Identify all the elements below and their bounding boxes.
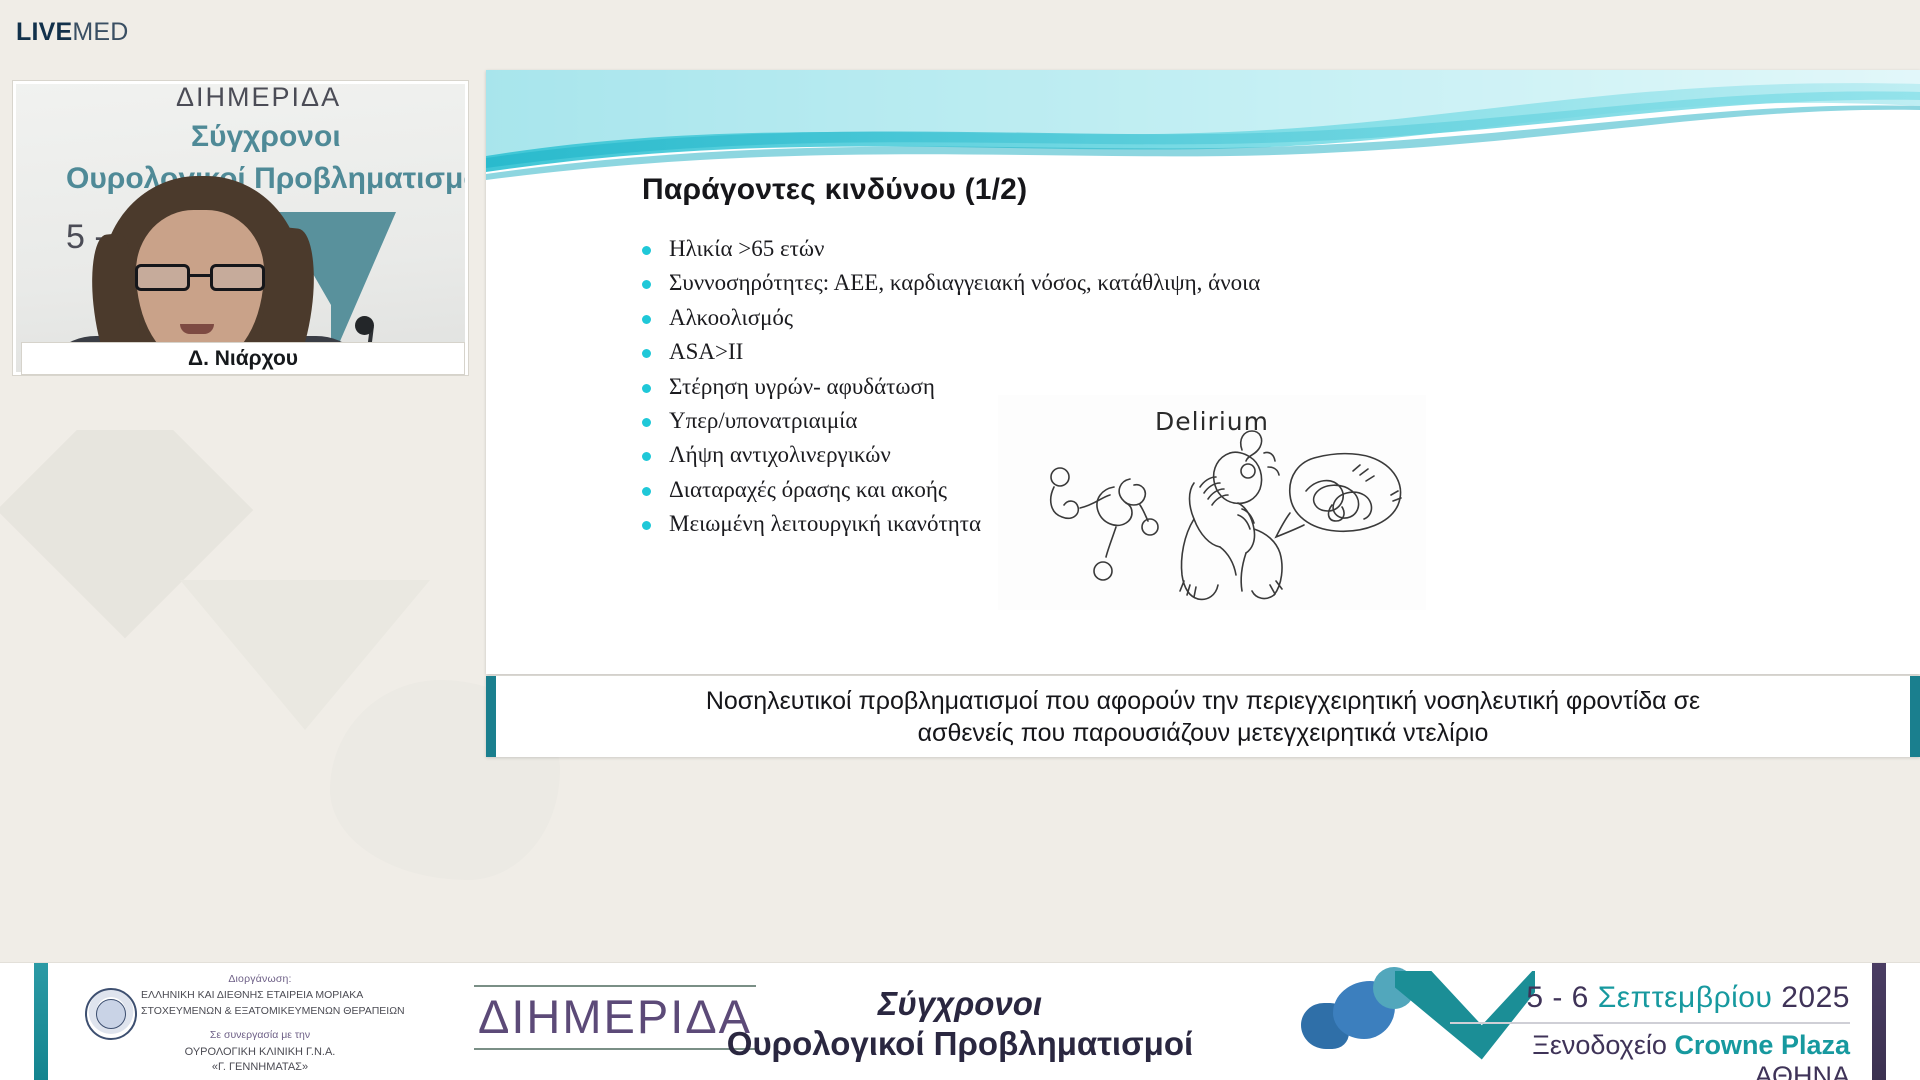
speaker-video-frame: ΔΙΗΜΕΡΙΔΑ Σύγχρονοι Ουρολογικοί Προβλημα…	[16, 84, 465, 372]
speaker-nameplate: Δ. Νιάρχου	[22, 343, 464, 374]
list-item: ASA>II	[642, 340, 1472, 364]
session-caption-text: Νοσηλευτικοί προβληματισμοί που αφορούν …	[706, 685, 1700, 749]
logo-med-text: MED	[72, 18, 128, 46]
footer-date-days: 5 - 6	[1526, 981, 1589, 1014]
footer-venue-label: Ξενοδοχείο	[1532, 1030, 1667, 1060]
footer-event-title-line-2: Ουρολογικοί Προβληματισμοί	[610, 1025, 1310, 1063]
list-item: Συννοσηρότητες: ΑΕΕ, καρδιαγγειακή νόσος…	[642, 271, 1472, 295]
collaborator-name-line-1: ΟΥΡΟΛΟΓΙΚΗ ΚΛΙΝΙΚΗ Γ.Ν.Α.	[95, 1045, 425, 1061]
footer-organizers: Διοργάνωση: ΕΛΛΗΝΙΚΗ ΚΑΙ ΔΙΕΘΝΗΣ ΕΤΑΙΡΕΙ…	[95, 973, 425, 1076]
presentation-slide[interactable]: Παράγοντες κινδύνου (1/2) Ηλικία >65 ετώ…	[486, 70, 1920, 674]
glasses-lens-left	[135, 264, 190, 291]
footer-event-title-line-1: Σύγχρονοι	[610, 985, 1310, 1023]
speaker-mouth	[180, 324, 214, 334]
organizer-name-line-2: ΣΤΟΧΕΥΜΕΝΩΝ & ΕΞΑΤΟΜΙΚΕΥΜΕΝΩΝ ΘΕΡΑΠΕΙΩΝ	[141, 1004, 425, 1020]
footer-date-year: 2025	[1781, 981, 1850, 1014]
logo-live-text: LIVE	[16, 18, 72, 46]
deco-chevron-2	[180, 580, 430, 830]
bullet-dot-icon	[642, 487, 651, 496]
deco-chevron-1	[0, 430, 358, 848]
bullet-dot-icon	[642, 452, 651, 461]
microphone-head-icon	[355, 316, 374, 335]
collaboration-label: Σε συνεργασία με την	[95, 1029, 425, 1041]
list-item-label: ASA>II	[669, 340, 743, 364]
session-caption-bar: Νοσηλευτικοί προβληματισμοί που αφορούν …	[486, 676, 1920, 757]
bullet-dot-icon	[642, 315, 651, 324]
list-item: Ηλικία >65 ετών	[642, 237, 1472, 261]
footer-event-title: Σύγχρονοι Ουρολογικοί Προβληματισμοί	[610, 985, 1310, 1063]
event-footer: Διοργάνωση: ΕΛΛΗΝΙΚΗ ΚΑΙ ΔΙΕΘΝΗΣ ΕΤΑΙΡΕΙ…	[0, 962, 1920, 1080]
list-item-label: Στέρηση υγρών- αφυδάτωση	[669, 375, 935, 399]
list-item-label: Συννοσηρότητες: ΑΕΕ, καρδιαγγειακή νόσος…	[669, 271, 1260, 295]
slide-content: Παράγοντες κινδύνου (1/2) Ηλικία >65 ετώ…	[486, 70, 1920, 674]
footer-date: 5 - 6 Σεπτεμβρίου 2025	[1450, 981, 1850, 1015]
list-item-label: Ηλικία >65 ετών	[669, 237, 824, 261]
collaborator-name: ΟΥΡΟΛΟΓΙΚΗ ΚΛΙΝΙΚΗ Γ.Ν.Α. «Γ. ΓΕΝΝΗΜΑΤΑΣ…	[95, 1045, 425, 1077]
list-item: Αλκοολισμός	[642, 306, 1472, 330]
list-item-label: Μειωμένη λειτουργική ικανότητα	[669, 512, 981, 536]
bullet-dot-icon	[642, 384, 651, 393]
delirium-illustration: Delirium	[998, 395, 1426, 610]
footer-date-rule	[1450, 1022, 1850, 1024]
organizer-name: ΕΛΛΗΝΙΚΗ ΚΑΙ ΔΙΕΘΝΗΣ ΕΤΑΙΡΕΙΑ ΜΟΡΙΑΚΑ ΣΤ…	[141, 988, 425, 1020]
glasses-icon	[135, 264, 265, 292]
backdrop-line-1: ΔΙΗΜΕΡΙΔΑ	[176, 84, 341, 113]
collaborator-name-line-2: «Γ. ΓΕΝΝΗΜΑΤΑΣ»	[95, 1060, 425, 1076]
speaker-name: Δ. Νιάρχου	[188, 347, 298, 371]
backdrop-line-2: Σύγχρονοι	[191, 120, 341, 154]
society-seal-inner	[96, 999, 126, 1029]
footer-venue: Ξενοδοχείο Crowne Plaza ΑΘΗΝΑ	[1450, 1030, 1850, 1080]
list-item-label: Λήψη αντιχολινεργικών	[669, 443, 891, 467]
slide-title: Παράγοντες κινδύνου (1/2)	[642, 173, 1027, 207]
bullet-dot-icon	[642, 349, 651, 358]
glasses-bridge	[190, 274, 210, 277]
footer-date-month: Σεπτεμβρίου	[1598, 981, 1773, 1014]
livemed-logo[interactable]: LIVEMED	[16, 18, 129, 47]
bullet-dot-icon	[642, 521, 651, 530]
footer-accent-bar-right	[1872, 963, 1886, 1080]
glasses-lens-right	[210, 264, 265, 291]
bullet-dot-icon	[642, 418, 651, 427]
footer-accent-bar-left	[34, 963, 48, 1080]
list-item-label: Διαταραχές όρασης και ακοής	[669, 478, 947, 502]
bullet-dot-icon	[642, 280, 651, 289]
speaker-video[interactable]: ΔΙΗΜΕΡΙΔΑ Σύγχρονοι Ουρολογικοί Προβλημα…	[13, 81, 468, 375]
session-caption-line-2: ασθενείς που παρουσιάζουν μετεγχειρητικά…	[706, 717, 1700, 749]
session-caption-line-1: Νοσηλευτικοί προβληματισμοί που αφορούν …	[706, 685, 1700, 717]
footer-venue-name: Crowne Plaza	[1674, 1030, 1850, 1060]
footer-date-venue: 5 - 6 Σεπτεμβρίου 2025 Ξενοδοχείο Crowne…	[1450, 981, 1850, 1080]
bullet-dot-icon	[642, 246, 651, 255]
organizer-name-line-1: ΕΛΛΗΝΙΚΗ ΚΑΙ ΔΙΕΘΝΗΣ ΕΤΑΙΡΕΙΑ ΜΟΡΙΑΚΑ	[141, 988, 425, 1004]
society-seal-icon	[85, 988, 137, 1040]
list-item-label: Αλκοολισμός	[669, 306, 793, 330]
list-item-label: Υπερ/υπονατριαιμία	[669, 409, 857, 433]
top-brand-bar: LIVEMED	[0, 0, 1920, 58]
organizer-label: Διοργάνωση:	[95, 973, 425, 985]
footer-venue-city: ΑΘΗΝΑ	[1755, 1061, 1850, 1080]
delirium-illustration-caption: Delirium	[998, 407, 1426, 436]
